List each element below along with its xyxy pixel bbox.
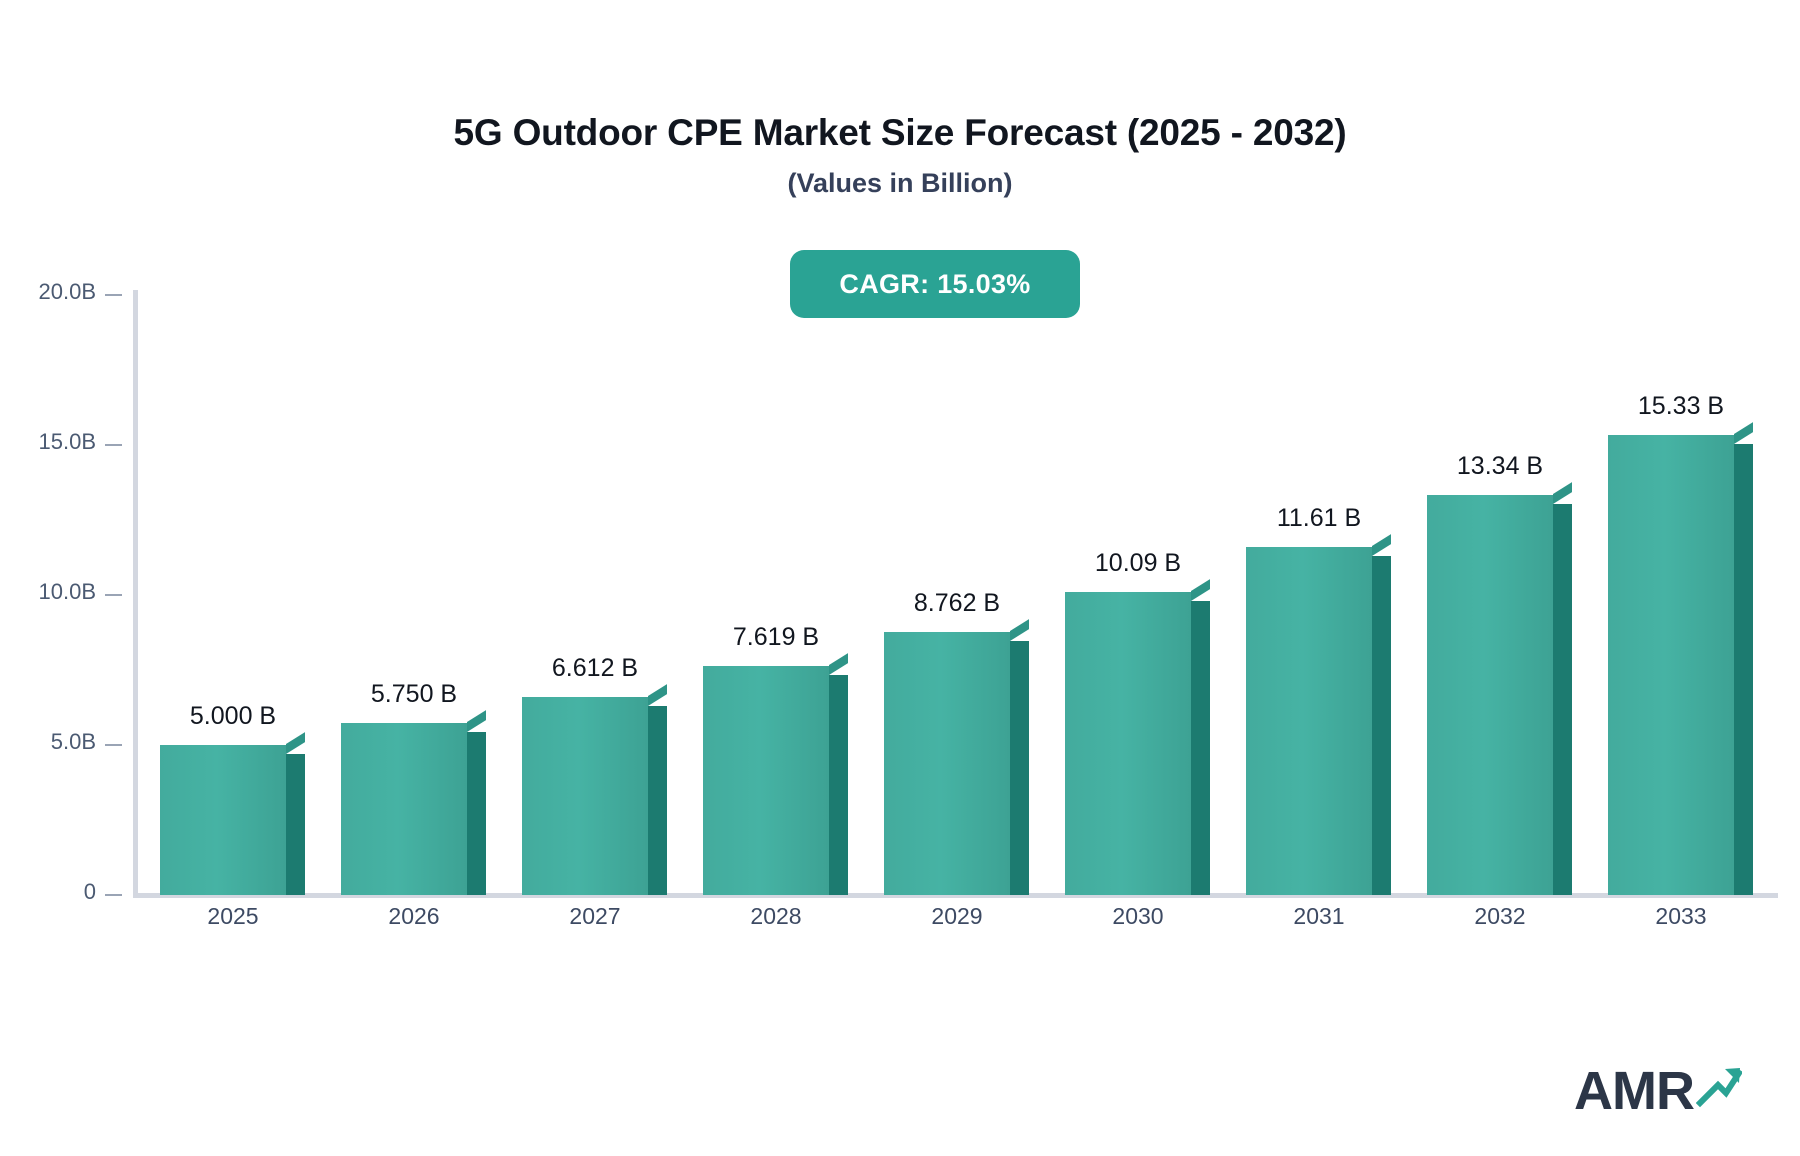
bar-item[interactable]: 13.34 B xyxy=(1427,495,1572,895)
growth-arrow-icon xyxy=(1696,1063,1742,1114)
bar-front-face xyxy=(160,745,286,895)
y-axis-tick-label: 20.0B xyxy=(39,279,97,305)
bar-item[interactable]: 8.762 B xyxy=(884,632,1029,895)
bar-value-label: 7.619 B xyxy=(681,623,871,652)
bar-value-label: 6.612 B xyxy=(500,654,690,683)
bar-front-face xyxy=(1065,592,1191,895)
bar-item[interactable]: 10.09 B xyxy=(1065,592,1210,895)
x-axis-label: 2026 xyxy=(319,903,509,930)
bar-front-face xyxy=(1427,495,1553,895)
bar-front-face xyxy=(884,632,1010,895)
bar-side-face xyxy=(1553,504,1572,895)
bar-top-face xyxy=(1372,534,1391,556)
bar-item[interactable]: 6.612 B xyxy=(522,697,667,895)
y-axis-tick-mark xyxy=(105,594,122,596)
amr-logo-text: AMR xyxy=(1574,1064,1694,1118)
bar-side-face xyxy=(286,754,305,895)
bar-value-label: 13.34 B xyxy=(1405,452,1595,481)
bar-value-label: 5.750 B xyxy=(319,680,509,709)
bar-top-face xyxy=(467,710,486,732)
bar-side-face xyxy=(829,675,848,895)
x-axis-label: 2031 xyxy=(1224,903,1414,930)
bar-side-face xyxy=(467,732,486,896)
bar-item[interactable]: 7.619 B xyxy=(703,666,848,895)
bar-side-face xyxy=(1191,601,1210,895)
bar-value-label: 10.09 B xyxy=(1043,549,1233,578)
bar-top-face xyxy=(648,684,667,706)
bar-side-face xyxy=(1734,444,1753,895)
x-axis-label: 2029 xyxy=(862,903,1052,930)
bar-top-face xyxy=(1010,619,1029,641)
x-axis-label: 2028 xyxy=(681,903,871,930)
bar-item[interactable]: 5.000 B xyxy=(160,745,305,895)
bar-side-face xyxy=(1010,641,1029,895)
y-axis-tick-label: 5.0B xyxy=(51,729,96,755)
bar-value-label: 15.33 B xyxy=(1586,392,1776,421)
y-axis-tick-label: 15.0B xyxy=(39,429,97,455)
bar-top-face xyxy=(1553,482,1572,504)
y-axis-tick-mark xyxy=(105,444,122,446)
y-axis-tick-mark xyxy=(105,294,122,296)
bar-side-face xyxy=(648,706,667,895)
x-axis-label: 2025 xyxy=(138,903,328,930)
y-axis-tick-label: 0 xyxy=(84,879,96,905)
bar-side-face xyxy=(1372,556,1391,895)
x-axis-label: 2032 xyxy=(1405,903,1595,930)
bar-value-label: 8.762 B xyxy=(862,589,1052,618)
bar-item[interactable]: 11.61 B xyxy=(1246,547,1391,895)
bar-top-face xyxy=(829,654,848,676)
bar-value-label: 11.61 B xyxy=(1224,504,1414,533)
y-axis-tick-label: 10.0B xyxy=(39,579,97,605)
bar-value-label: 5.000 B xyxy=(138,702,328,731)
bar-front-face xyxy=(703,666,829,895)
bar-chart-plot: 05.0B10.0B15.0B20.0B 5.000 B5.750 B6.612… xyxy=(0,0,1800,1156)
bar-item[interactable]: 15.33 B xyxy=(1608,435,1753,895)
bar-front-face xyxy=(522,697,648,895)
x-axis-label: 2027 xyxy=(500,903,690,930)
amr-logo: AMR xyxy=(1574,1063,1742,1118)
bar-top-face xyxy=(1191,579,1210,601)
y-axis-tick-mark xyxy=(105,744,122,746)
bar-top-face xyxy=(1734,422,1753,444)
bar-front-face xyxy=(1246,547,1372,895)
y-axis-tick-mark xyxy=(105,894,122,896)
bar-top-face xyxy=(286,732,305,754)
x-axis-label: 2033 xyxy=(1586,903,1776,930)
x-axis-label: 2030 xyxy=(1043,903,1233,930)
bar-front-face xyxy=(1608,435,1734,895)
chart-page: 5G Outdoor CPE Market Size Forecast (202… xyxy=(0,0,1800,1156)
bar-item[interactable]: 5.750 B xyxy=(341,723,486,896)
y-axis-line xyxy=(133,290,138,895)
bar-front-face xyxy=(341,723,467,896)
